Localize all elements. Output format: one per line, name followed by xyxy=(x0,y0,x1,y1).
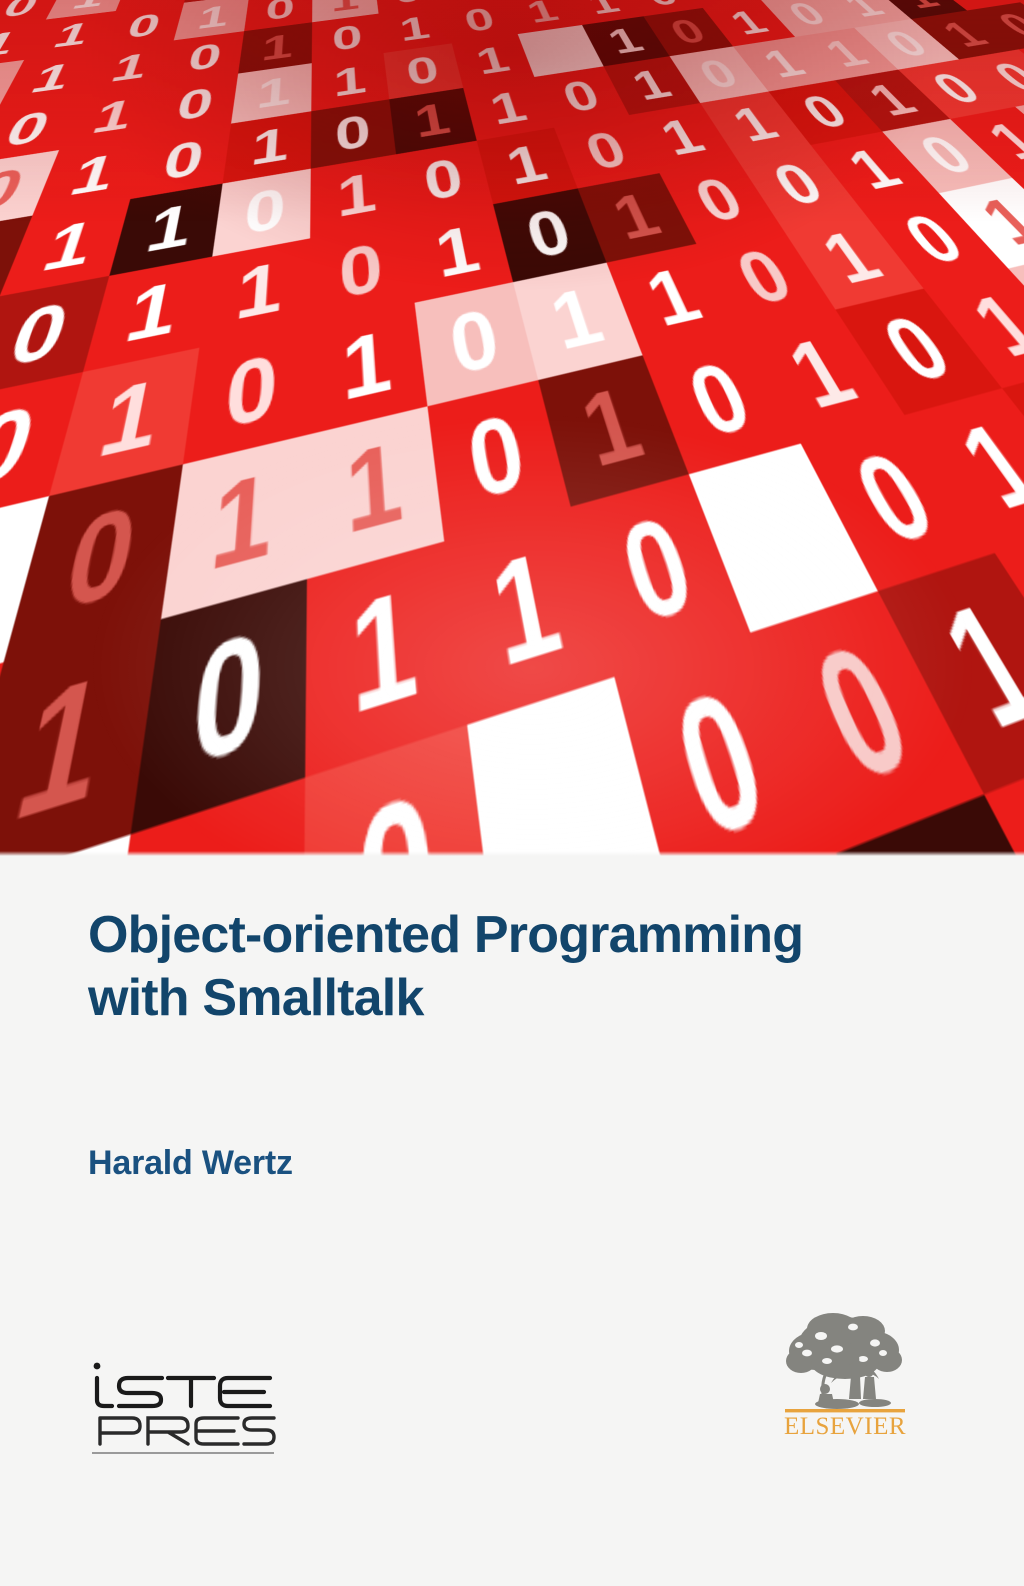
cover-artwork: 1010101011010101100101010110101010111011… xyxy=(0,0,1024,856)
elsevier-gold-rule xyxy=(785,1409,905,1412)
title-line-1: Object-oriented Programming xyxy=(88,904,928,967)
iste-press-logo: iSTE PRESS xyxy=(88,1356,278,1466)
iste-wordmark-icon xyxy=(94,1363,270,1406)
cover-text-zone: Object-oriented Programming with Smallta… xyxy=(0,856,1024,1586)
press-wordmark-icon xyxy=(100,1418,274,1444)
book-cover: 1010101011010101100101010110101010111011… xyxy=(0,0,1024,1586)
elsevier-wordmark: ELSEVIER xyxy=(784,1413,906,1440)
binary-digit-grid: 1010101011010101100101010110101010111011… xyxy=(0,0,1024,856)
author-name: Harald Wertz xyxy=(88,1144,293,1183)
title-line-2: with Smalltalk xyxy=(88,967,928,1030)
artwork-perspective-stage: 1010101011010101100101010110101010111011… xyxy=(0,0,1024,856)
elsevier-tree-icon xyxy=(786,1313,902,1409)
elsevier-logo: ELSEVIER xyxy=(775,1303,915,1463)
page-title: Object-oriented Programming with Smallta… xyxy=(88,904,928,1031)
